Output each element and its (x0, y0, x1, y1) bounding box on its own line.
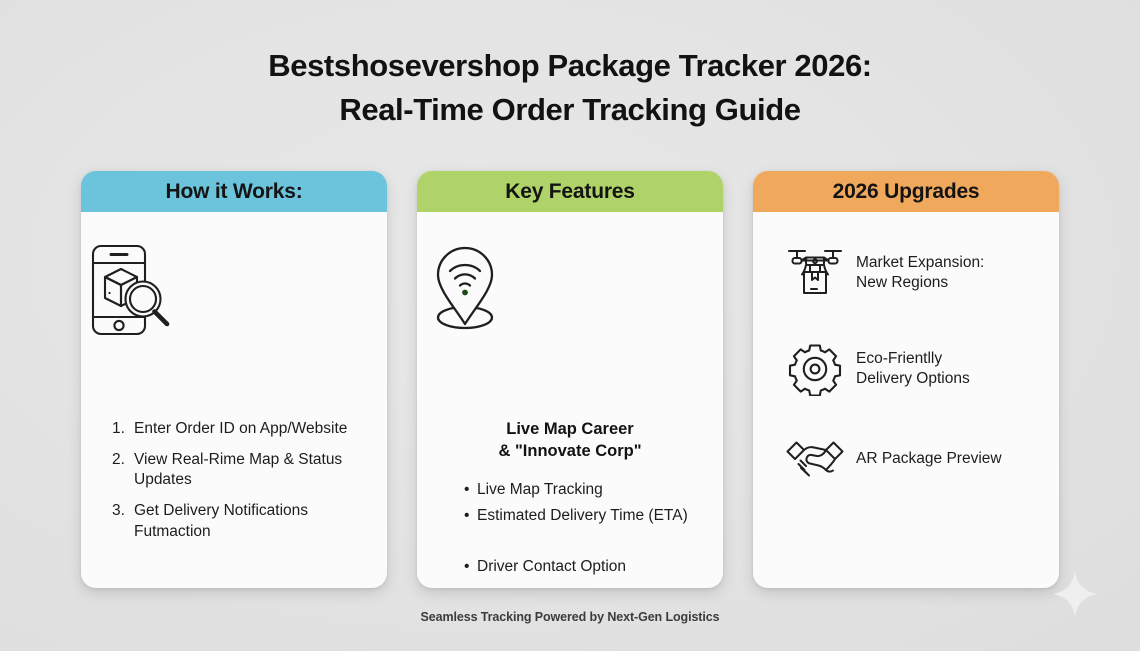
list-item: • Live Map Tracking (464, 480, 713, 500)
step-number: 2. (112, 450, 134, 490)
bullet-icon: • (464, 557, 477, 577)
map-pin-wifi-icon (417, 242, 723, 338)
list-item: AR Package Preview (784, 437, 1049, 481)
list-item: • Estimated Delivery Time (ETA) (464, 506, 713, 526)
list-item: Eco-Frientlly Delivery Options (784, 342, 1049, 396)
upgrade-label: Eco-Frientlly Delivery Options (846, 349, 1049, 389)
card-grid: How it Works: (0, 171, 1140, 588)
four-point-star-icon (1052, 571, 1098, 617)
list-item: • Driver Contact Option (464, 557, 713, 577)
card-body-2026-upgrades: Market Expansion: New Regions (753, 212, 1059, 588)
card-how-it-works[interactable]: How it Works: (81, 171, 387, 588)
bullet-text: Driver Contact Option (477, 557, 713, 577)
page-title-line-1: Bestshosevershop Package Tracker 2026: (0, 44, 1140, 88)
card-header-label-how-it-works: How it Works: (165, 180, 302, 204)
drone-package-icon (784, 245, 846, 301)
upgrade-label-line-1: Market Expansion: (856, 254, 984, 271)
card-header-2026-upgrades: 2026 Upgrades (753, 171, 1059, 212)
how-it-works-step-list: 1. Enter Order ID on App/Website 2. View… (112, 419, 373, 553)
bullet-icon: • (464, 480, 477, 500)
bullet-icon: • (464, 506, 477, 526)
upgrades-row-list: Market Expansion: New Regions (784, 245, 1049, 522)
card-body-key-features: Live Map Career & "Innovate Corp" • Live… (417, 212, 723, 588)
upgrade-label-line-2: Delivery Options (856, 370, 970, 387)
upgrade-label-line-2: New Regions (856, 274, 948, 291)
key-features-subtitle-line-2: & "Innovate Corp" (417, 441, 723, 463)
handshake-icon (784, 437, 846, 481)
card-key-features[interactable]: Key Features Live Map Career & "Innov (417, 171, 723, 588)
infographic-canvas: Bestshosevershop Package Tracker 2026: R… (0, 0, 1140, 651)
bullet-text: Live Map Tracking (477, 480, 713, 500)
list-item: 2. View Real-Rime Map & Status Updates (112, 450, 373, 490)
list-item: 1. Enter Order ID on App/Website (112, 419, 373, 439)
step-text: View Real-Rime Map & Status Updates (134, 450, 373, 490)
card-header-how-it-works: How it Works: (81, 171, 387, 212)
card-2026-upgrades[interactable]: 2026 Upgrades (753, 171, 1059, 588)
card-header-label-2026-upgrades: 2026 Upgrades (833, 180, 980, 204)
step-number: 1. (112, 419, 134, 439)
list-item: 3. Get Delivery Notifications Futmaction (112, 501, 373, 541)
key-features-subtitle: Live Map Career & "Innovate Corp" (417, 419, 723, 463)
bullet-text: Estimated Delivery Time (ETA) (477, 506, 713, 526)
list-item: Market Expansion: New Regions (784, 245, 1049, 301)
card-header-label-key-features: Key Features (505, 180, 635, 204)
page-title-line-2: Real-Time Order Tracking Guide (0, 88, 1140, 132)
card-header-key-features: Key Features (417, 171, 723, 212)
upgrade-label: AR Package Preview (846, 449, 1049, 469)
card-body-how-it-works: 1. Enter Order ID on App/Website 2. View… (81, 212, 387, 588)
step-number: 3. (112, 501, 134, 541)
key-features-bullet-list: • Live Map Tracking • Estimated Delivery… (464, 480, 713, 583)
step-text: Enter Order ID on App/Website (134, 419, 373, 439)
upgrade-label: Market Expansion: New Regions (846, 253, 1049, 293)
upgrade-label-line-1: Eco-Frientlly (856, 350, 942, 367)
gear-icon (784, 342, 846, 396)
phone-package-search-icon (81, 241, 387, 339)
key-features-subtitle-line-1: Live Map Career (417, 419, 723, 441)
step-text: Get Delivery Notifications Futmaction (134, 501, 373, 541)
page-title: Bestshosevershop Package Tracker 2026: R… (0, 44, 1140, 133)
footer-tagline: Seamless Tracking Powered by Next-Gen Lo… (0, 610, 1140, 624)
upgrade-label-line-1: AR Package Preview (856, 450, 1002, 467)
